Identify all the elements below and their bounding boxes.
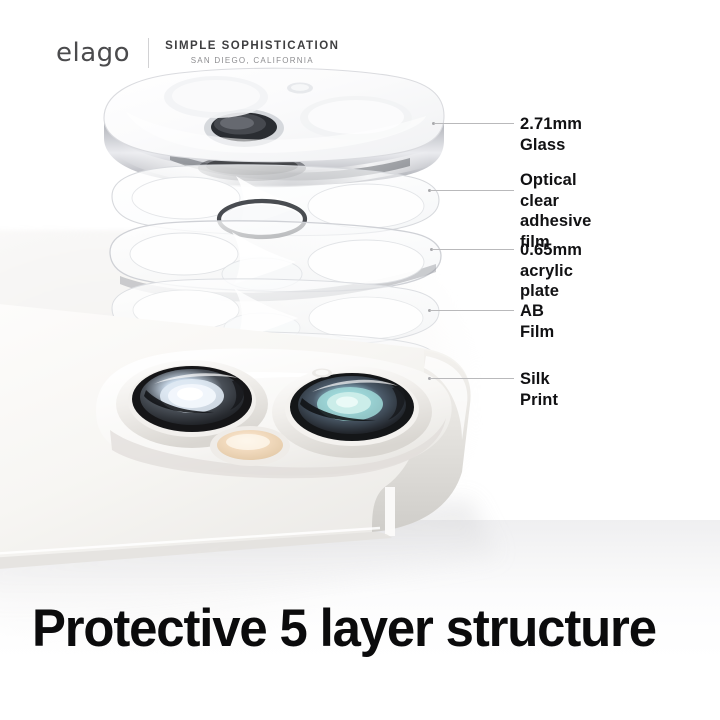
callout-leader-line	[430, 190, 514, 191]
callout-label-ab-film: AB Film	[520, 301, 554, 342]
camera-microphone	[312, 369, 332, 378]
callout-leader-line	[432, 249, 514, 250]
device-iphone-body	[0, 300, 500, 640]
callout-leader-line	[430, 310, 514, 311]
callout-leader-line	[434, 123, 514, 124]
camera-lens-right	[272, 366, 432, 458]
callout-label-acrylic: 0.65mm acrylic plate	[520, 240, 582, 302]
callout-label-glass: 2.71mm Glass	[520, 114, 582, 155]
callout-leader-line	[430, 378, 514, 379]
callout-label-silk-print: Silk Print	[520, 369, 558, 410]
product-infographic: elago SIMPLE SOPHISTICATION SAN DIEGO, C…	[0, 0, 720, 720]
camera-flash	[210, 426, 290, 466]
page-headline: Protective 5 layer structure	[32, 602, 666, 655]
